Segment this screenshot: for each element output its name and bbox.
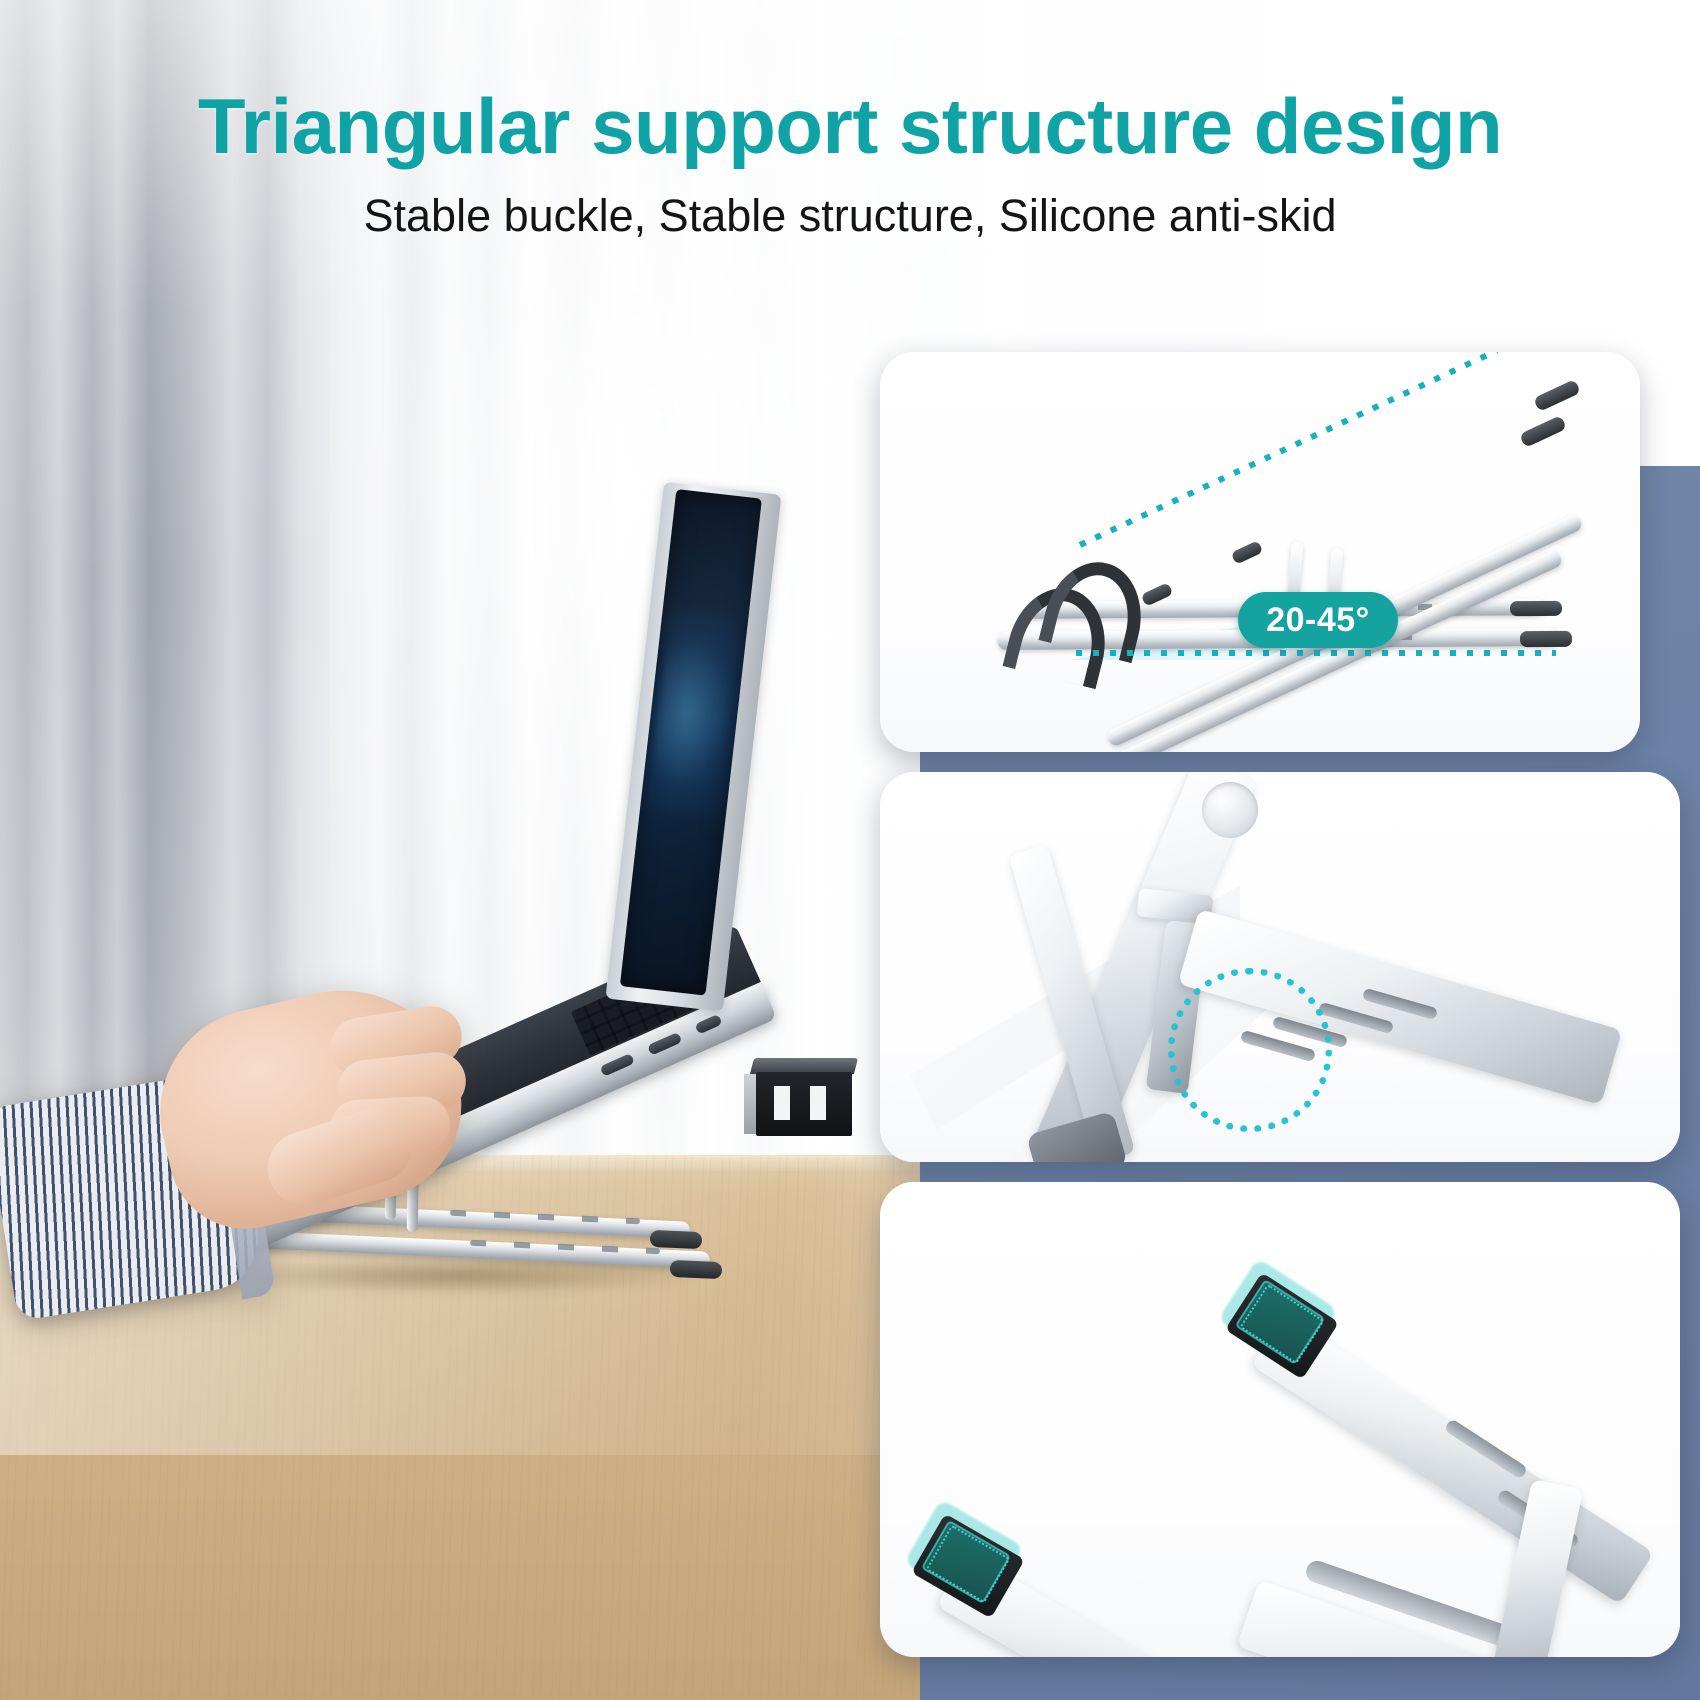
product-feature-image: Triangular support structure design Stab… xyxy=(0,0,1700,1700)
laptop-port-usbc-1 xyxy=(599,1053,635,1077)
silicone-pads-illustration xyxy=(880,1182,1680,1657)
top-rail-cap-b xyxy=(1519,415,1567,448)
base-rail-lower-cap xyxy=(1520,631,1572,647)
buckle-closeup-illustration xyxy=(880,772,1680,1162)
angle-dotted-baseline xyxy=(1076,650,1556,656)
rail-clip-b xyxy=(1231,540,1264,564)
laptop-on-stand-composition xyxy=(0,430,880,1260)
stand-profile-illustration: 20-45° xyxy=(880,352,1640,752)
laptop-lid xyxy=(605,482,781,1012)
buckle-highlight-circle xyxy=(1168,968,1332,1132)
base-rail-upper-cap xyxy=(1510,601,1562,616)
stand-rail-lower-cap xyxy=(650,1230,703,1249)
pivot-knob-top xyxy=(1202,782,1258,838)
laptop-port-usbc-2 xyxy=(647,1032,683,1056)
angle-range-badge: 20-45° xyxy=(1238,592,1398,648)
page-subtitle: Stable buckle, Stable structure, Silicon… xyxy=(0,190,1700,242)
user-hand xyxy=(30,970,500,1300)
stand-rail-upper-cap xyxy=(670,1260,723,1279)
angle-dotted-hypotenuse xyxy=(1079,352,1498,548)
laptop-port-aux xyxy=(694,1014,722,1035)
silicone-anti-skid-panel[interactable] xyxy=(880,1182,1680,1657)
adjustable-angle-panel[interactable]: 20-45° xyxy=(880,352,1640,752)
header-block: Triangular support structure design Stab… xyxy=(0,86,1700,242)
page-title: Triangular support structure design xyxy=(0,86,1700,168)
stable-buckle-panel[interactable] xyxy=(880,772,1680,1162)
top-rail-cap-a xyxy=(1533,379,1581,412)
